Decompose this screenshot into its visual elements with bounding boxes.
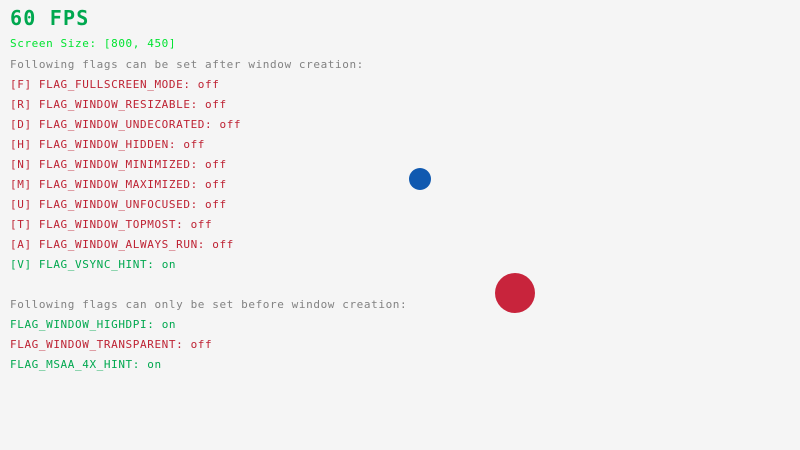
flag-name: FLAG_WINDOW_HIDDEN: [39,138,183,151]
flag-hotkey: [U] [10,198,39,211]
flag-hotkey: [T] [10,218,39,231]
flag-row[interactable]: [U] FLAG_WINDOW_UNFOCUSED: off [10,199,530,219]
flag-name: FLAG_VSYNC_HINT: [39,258,162,271]
flag-name: FLAG_MSAA_4X_HINT: [10,358,147,371]
flag-value: off [191,338,213,351]
flag-row[interactable]: FLAG_WINDOW_TRANSPARENT: off [10,339,530,359]
flag-hotkey: [A] [10,238,39,251]
flag-value: on [147,358,161,371]
flag-row[interactable]: [V] FLAG_VSYNC_HINT: on [10,259,530,279]
flag-row[interactable]: [M] FLAG_WINDOW_MAXIMIZED: off [10,179,530,199]
flag-list-before-creation: FLAG_WINDOW_HIGHDPI: onFLAG_WINDOW_TRANS… [10,319,530,379]
flag-value: off [191,218,213,231]
flag-name: FLAG_WINDOW_TOPMOST: [39,218,191,231]
flag-hotkey: [M] [10,178,39,191]
flag-value: off [205,158,227,171]
heading-flags-before-creation: Following flags can only be set before w… [10,299,407,310]
flag-row[interactable]: [T] FLAG_WINDOW_TOPMOST: off [10,219,530,239]
flag-value: on [162,318,176,331]
flag-row[interactable]: FLAG_WINDOW_HIGHDPI: on [10,319,530,339]
flag-hotkey: [H] [10,138,39,151]
flag-hotkey: [D] [10,118,39,131]
heading-flags-after-creation: Following flags can be set after window … [10,59,364,70]
flag-row[interactable]: [N] FLAG_WINDOW_MINIMIZED: off [10,159,530,179]
flag-value: off [198,78,220,91]
flag-row[interactable]: FLAG_MSAA_4X_HINT: on [10,359,530,379]
flag-row[interactable]: [A] FLAG_WINDOW_ALWAYS_RUN: off [10,239,530,259]
fps-counter: 60 FPS [10,8,89,28]
raylib-window-canvas[interactable]: 60 FPS Screen Size: [800, 450] Following… [0,0,800,450]
flag-name: FLAG_WINDOW_ALWAYS_RUN: [39,238,212,251]
flag-name: FLAG_FULLSCREEN_MODE: [39,78,198,91]
flag-value: off [183,138,205,151]
red-ball [495,273,535,313]
flag-name: FLAG_WINDOW_HIGHDPI: [10,318,162,331]
flag-value: on [162,258,176,271]
flag-value: off [205,198,227,211]
screen-size-label: Screen Size: [800, 450] [10,38,176,49]
flag-name: FLAG_WINDOW_RESIZABLE: [39,98,205,111]
flag-value: off [212,238,234,251]
flag-hotkey: [V] [10,258,39,271]
blue-ball [409,168,431,190]
flag-list-after-creation: [F] FLAG_FULLSCREEN_MODE: off[R] FLAG_WI… [10,79,530,279]
flag-value: off [205,178,227,191]
flag-name: FLAG_WINDOW_UNFOCUSED: [39,198,205,211]
flag-name: FLAG_WINDOW_MAXIMIZED: [39,178,205,191]
flag-hotkey: [N] [10,158,39,171]
flag-hotkey: [R] [10,98,39,111]
flag-row[interactable]: [H] FLAG_WINDOW_HIDDEN: off [10,139,530,159]
flag-name: FLAG_WINDOW_TRANSPARENT: [10,338,191,351]
flag-name: FLAG_WINDOW_MINIMIZED: [39,158,205,171]
flag-hotkey: [F] [10,78,39,91]
flag-name: FLAG_WINDOW_UNDECORATED: [39,118,220,131]
flag-value: off [205,98,227,111]
flag-row[interactable]: [R] FLAG_WINDOW_RESIZABLE: off [10,99,530,119]
flag-row[interactable]: [D] FLAG_WINDOW_UNDECORATED: off [10,119,530,139]
flag-value: off [219,118,241,131]
flag-row[interactable]: [F] FLAG_FULLSCREEN_MODE: off [10,79,530,99]
